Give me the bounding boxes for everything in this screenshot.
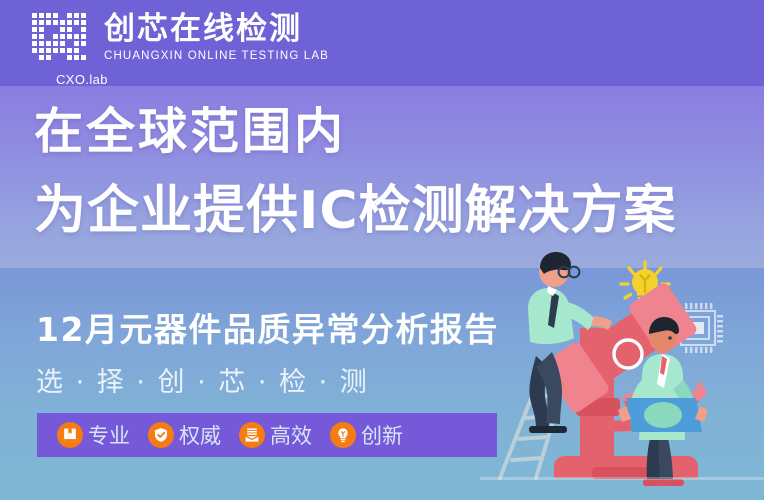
book-icon — [57, 422, 83, 448]
logo-sublabel: CXO.lab — [56, 72, 108, 87]
brand-logo[interactable]: CXO.lab 创芯在线检测 CHUANGXIN ONLINE TESTING … — [30, 12, 329, 62]
inbox-tray-icon — [239, 422, 265, 448]
badge-label: 权威 — [179, 420, 221, 450]
badge-label: 创新 — [361, 420, 403, 450]
lightbulb-icon — [330, 422, 356, 448]
header-bar: CXO.lab 创芯在线检测 CHUANGXIN ONLINE TESTING … — [0, 0, 764, 86]
headline-line-2: 为企业提供IC检测解决方案 — [34, 180, 677, 242]
pixel-grid-logo-icon — [30, 12, 92, 62]
feature-badge-bar: 专业 权威 — [37, 413, 497, 457]
brand-name-cn: 创芯在线检测 — [104, 12, 329, 46]
shield-check-icon — [148, 422, 174, 448]
brand-name-en: CHUANGXIN ONLINE TESTING LAB — [104, 50, 329, 62]
blue-display-panel — [626, 398, 702, 432]
microscope-inspection-scene — [480, 250, 764, 500]
headline-line-1: 在全球范围内 — [34, 104, 346, 160]
badge-label: 高效 — [270, 420, 312, 450]
report-subtitle: 12月元器件品质异常分析报告 — [36, 303, 499, 351]
floor-line — [480, 477, 764, 480]
badge-label: 专业 — [88, 420, 130, 450]
badge-efficient[interactable]: 高效 — [239, 420, 312, 450]
promo-banner: CXO.lab 创芯在线检测 CHUANGXIN ONLINE TESTING … — [0, 0, 764, 500]
badge-innovative[interactable]: 创新 — [330, 420, 403, 450]
badge-professional[interactable]: 专业 — [57, 420, 130, 450]
company-slogan: 选 · 择 · 创 · 芯 · 检 · 测 — [36, 360, 369, 399]
badge-authoritative[interactable]: 权威 — [148, 420, 221, 450]
